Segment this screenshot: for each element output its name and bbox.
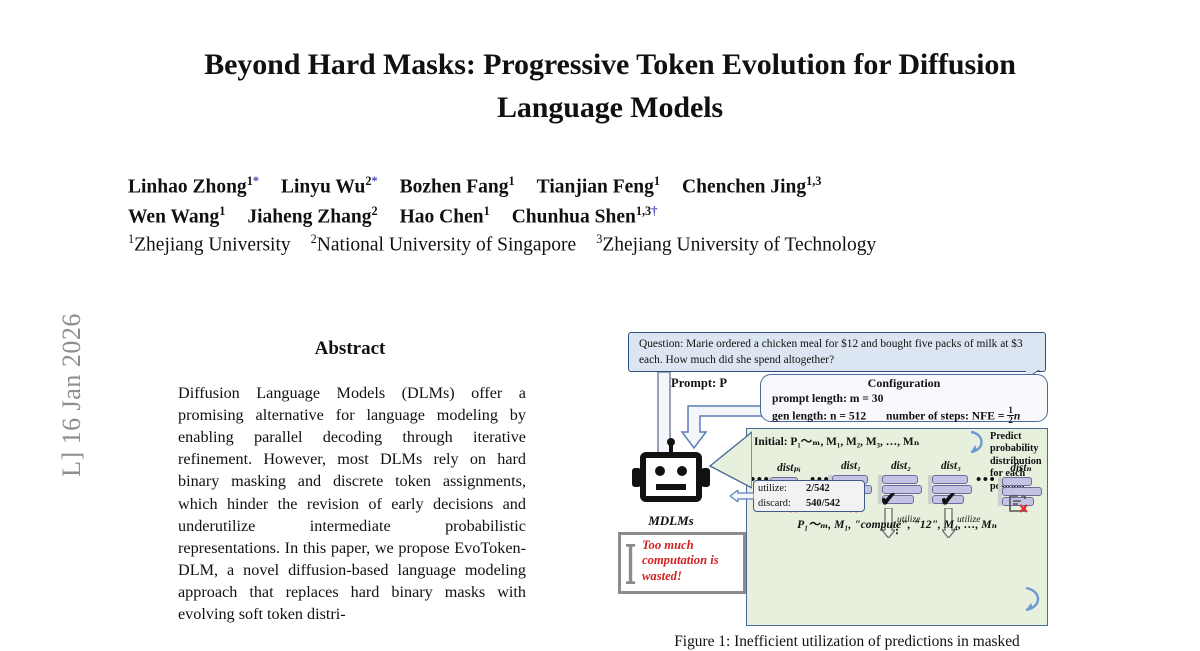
warning-text: Too much computation is wasted! xyxy=(642,535,746,584)
author-affiliation-marker: 1 xyxy=(509,174,515,188)
ellipsis-right: ••• xyxy=(976,472,996,489)
author-name: Linhao Zhong xyxy=(128,177,247,198)
figure-1: Question: Marie ordered a chicken meal f… xyxy=(612,330,1082,630)
speech-callout-wedge xyxy=(708,430,752,500)
configuration-title: Configuration xyxy=(760,376,1048,391)
author-affiliation-marker: 1 xyxy=(219,204,225,218)
affiliation-name: Zhejiang University xyxy=(134,235,291,256)
author-line-1: Linhao Zhong1*Linyu Wu2*Bozhen Fang1Tian… xyxy=(128,172,1083,202)
author-footnote-marker: † xyxy=(651,204,657,218)
arxiv-date-stamp: L] 16 Jan 2026 xyxy=(57,245,87,545)
abstract-body: Diffusion Language Models (DLMs) offer a… xyxy=(178,382,526,625)
author-name: Wen Wang xyxy=(128,207,219,228)
author-name: Hao Chen xyxy=(400,207,484,228)
gen-length-text: gen length: n = 512 xyxy=(772,409,866,422)
affiliation-name: Zhejiang University of Technology xyxy=(602,235,876,256)
affiliation-name: National University of Singapore xyxy=(317,235,576,256)
author-footnote-marker: * xyxy=(372,174,378,188)
author-line-2: Wen Wang1Jiaheng Zhang2Hao Chen1Chunhua … xyxy=(128,202,1083,232)
author-name: Chunhua Shen xyxy=(512,207,636,228)
checkmark-icon: ✔ xyxy=(940,490,957,510)
document-discard-icon xyxy=(1008,494,1029,513)
abstract-paragraph: Diffusion Language Models (DLMs) offer a… xyxy=(178,382,526,625)
configuration-prompt-length: prompt length: m = 30 xyxy=(772,392,883,405)
abstract-heading: Abstract xyxy=(170,338,530,360)
dist-label: distₙ xyxy=(998,460,1044,474)
author-name: Linyu Wu xyxy=(281,177,365,198)
loop-arrow-icon xyxy=(1022,586,1044,612)
loop-arrow-icon xyxy=(968,430,988,454)
page-title: Beyond Hard Masks: Progressive Token Evo… xyxy=(150,44,1070,129)
author-name: Tianjian Feng xyxy=(537,177,654,198)
utilization-counter-box: utilize:2/542 discard:540/542 xyxy=(753,480,865,512)
discard-row: discard:540/542 xyxy=(758,497,864,512)
author-affiliation-marker: 1,3 xyxy=(806,174,821,188)
model-label: MDLMs xyxy=(622,513,720,529)
vertical-dots: ⋮ xyxy=(762,528,1032,534)
nfe-n: n xyxy=(1014,409,1020,422)
author-list: Linhao Zhong1*Linyu Wu2*Bozhen Fang1Tian… xyxy=(128,172,1083,232)
nfe-text: number of steps: NFE = xyxy=(886,409,1004,422)
figure-caption: Figure 1: Inefficient utilization of pre… xyxy=(612,632,1082,651)
initial-sequence-line: Initial: P₁～ₘ, M₁, M₂, M₃, …, Mₙ xyxy=(754,433,919,449)
author-name: Chenchen Jing xyxy=(682,177,806,198)
dist-label: dist₁ xyxy=(828,460,874,472)
dist-label: dist₂ xyxy=(878,460,924,472)
dist-label: dist₃ xyxy=(928,460,974,472)
i-beam-icon xyxy=(626,544,635,584)
robot-icon xyxy=(632,438,710,512)
author-name: Jiaheng Zhang xyxy=(247,207,371,228)
author-affiliation-marker: 2 xyxy=(371,204,377,218)
author-footnote-marker: * xyxy=(253,174,259,188)
author-name: Bozhen Fang xyxy=(400,177,509,198)
checkmark-icon: ✔ xyxy=(880,490,897,510)
affiliation-list: 1Zhejiang University2National University… xyxy=(128,232,1083,257)
dist-label: distₚᵢ xyxy=(766,460,812,474)
author-affiliation-marker: 1 xyxy=(484,204,490,218)
utilize-row: utilize:2/542 xyxy=(758,482,864,497)
question-bubble: Question: Marie ordered a chicken meal f… xyxy=(628,332,1046,372)
configuration-gen-length: gen length: n = 512 number of steps: NFE… xyxy=(772,406,1020,425)
prompt-label: Prompt: P xyxy=(671,376,727,391)
author-affiliation-marker: 1 xyxy=(654,174,660,188)
author-affiliation-marker: 1,3 xyxy=(636,204,651,218)
